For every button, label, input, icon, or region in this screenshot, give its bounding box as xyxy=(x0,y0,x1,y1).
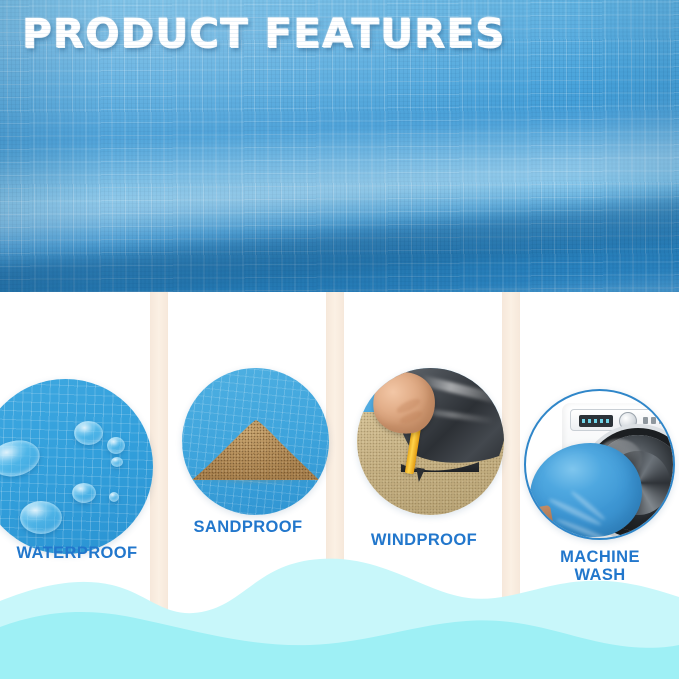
washer-button-icon xyxy=(659,417,664,424)
water-droplet-icon xyxy=(109,492,119,502)
machine-wash-icon xyxy=(524,389,675,540)
feature-label-waterproof: WATERPROOF xyxy=(4,544,150,562)
washer-dial-icon xyxy=(619,412,637,430)
water-droplet-icon xyxy=(72,483,96,503)
water-droplet-icon xyxy=(107,437,125,454)
feature-label-machine-wash: MACHINE WASH xyxy=(522,548,678,585)
waterproof-icon xyxy=(0,379,153,554)
page-title: PRODUCT FEATURES xyxy=(22,14,506,54)
feature-label-windproof: WINDPROOF xyxy=(348,531,500,549)
washing-machine-control-panel xyxy=(570,409,674,431)
washer-button-icon xyxy=(643,417,648,424)
water-droplet-icon xyxy=(20,501,62,534)
sandproof-icon xyxy=(182,368,329,515)
washer-button-icon xyxy=(651,417,656,424)
washer-display-icon xyxy=(579,415,613,427)
title-container: PRODUCT FEATURES xyxy=(22,14,506,54)
forearm-icon xyxy=(524,505,553,531)
feature-label-sandproof: SANDPROOF xyxy=(172,518,324,536)
water-droplet-icon xyxy=(111,457,123,467)
water-droplet-icon xyxy=(74,421,103,445)
product-features-poster: PRODUCT FEATURES xyxy=(0,0,679,679)
windproof-icon xyxy=(357,368,504,515)
